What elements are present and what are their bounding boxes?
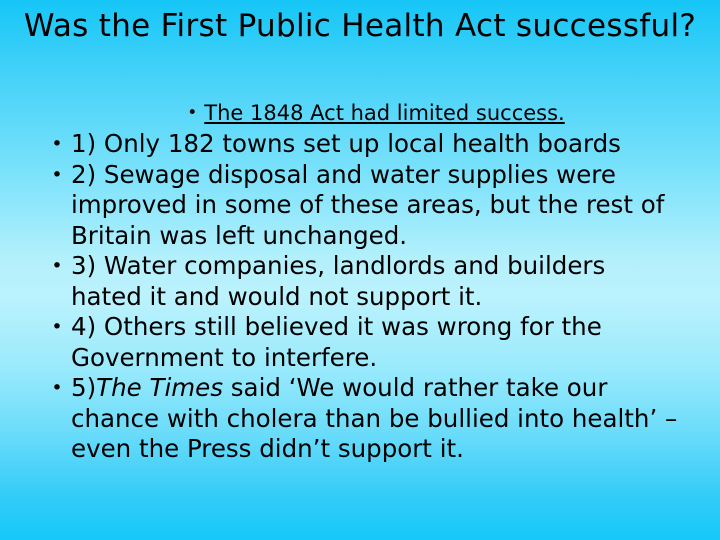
slide-title: Was the First Public Health Act successf… [0,6,720,46]
bullet-item-1: • 1) Only 182 towns set up local health … [44,129,680,160]
bullet-5-prefix: 5) [71,373,96,402]
bullet-item-5: • 5)The Times said ‘We would rather take… [44,373,680,465]
bullet-text-1: 1) Only 182 towns set up local health bo… [70,129,680,160]
bullet-text-3: 3) Water companies, landlords and builde… [70,251,680,312]
bullet-marker-icon: • [44,160,70,191]
lead-bullet-text: The 1848 Act had limited success. [204,101,564,125]
bullet-5-citation: The Times [96,373,223,402]
slide-canvas: Was the First Public Health Act successf… [0,0,720,540]
bullet-marker-icon: • [44,129,70,160]
bullet-marker-icon: • [187,103,204,123]
bullet-item-2: • 2) Sewage disposal and water supplies … [44,160,680,252]
bullet-marker-icon: • [44,251,70,282]
bullet-item-3: • 3) Water companies, landlords and buil… [44,251,680,312]
bullet-marker-icon: • [44,373,70,404]
bullet-marker-icon: • [44,312,70,343]
bullet-text-5: 5)The Times said ‘We would rather take o… [70,373,680,465]
bullet-item-4: • 4) Others still believed it was wrong … [44,312,680,373]
bullet-text-4: 4) Others still believed it was wrong fo… [70,312,680,373]
slide-body: •The 1848 Act had limited success. • 1) … [44,98,680,465]
lead-bullet-item: •The 1848 Act had limited success. [44,98,680,128]
bullet-text-2: 2) Sewage disposal and water supplies we… [70,160,680,252]
